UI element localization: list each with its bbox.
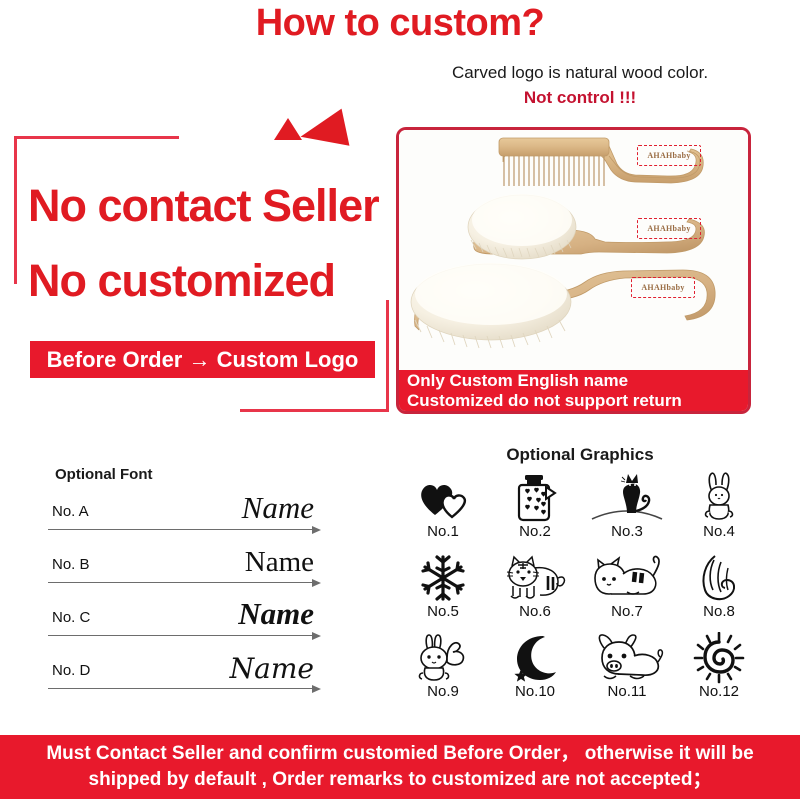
graphic-option-2[interactable]: No.2: [489, 470, 581, 550]
bracket-top-left-horizontal: [14, 136, 179, 139]
graphic-label-12: No.12: [699, 683, 739, 700]
graphic-option-1[interactable]: No.1: [397, 470, 489, 550]
two-hearts-icon: [417, 470, 469, 525]
graphic-option-9[interactable]: No.9: [397, 630, 489, 710]
graphic-label-9: No.9: [427, 683, 459, 700]
font-row-arrow-icon-c: [312, 632, 321, 640]
graphic-label-1: No.1: [427, 523, 459, 540]
bottom-warning-banner: Must Contact Seller and confirm customie…: [0, 735, 800, 799]
graphic-label-3: No.3: [611, 523, 643, 540]
black-cat-on-hill-icon: [590, 470, 664, 525]
graphic-label-4: No.4: [703, 523, 735, 540]
standing-bunny-icon: [697, 470, 741, 525]
font-option-number-c: No. C: [52, 609, 90, 626]
engraving-area-small-brush: AHAHbaby: [637, 218, 701, 239]
graphic-label-10: No.10: [515, 683, 555, 700]
font-row-arrow-icon-d: [312, 685, 321, 693]
font-option-number-b: No. B: [52, 556, 90, 573]
not-control-note: Not control !!!: [400, 88, 760, 108]
font-option-number-d: No. D: [52, 662, 90, 679]
graphic-option-6[interactable]: No.6: [489, 550, 581, 630]
jar-of-hearts-icon: [513, 470, 557, 525]
product-caption-line2: Customized do not support return: [407, 391, 748, 411]
angel-wing-icon: [695, 550, 743, 605]
font-option-sample-d: Name: [230, 652, 314, 685]
optional-font-title: Optional Font: [55, 466, 152, 483]
bottom-warning-line2: shipped by default , Order remarks to cu…: [89, 767, 712, 793]
lying-cat-icon: [587, 550, 667, 605]
sun-swirl-icon: [693, 630, 745, 685]
font-option-row-a[interactable]: No. A Name: [48, 482, 320, 530]
graphic-option-10[interactable]: No.10: [489, 630, 581, 710]
heading-no-contact-seller: No contact Seller: [28, 180, 379, 232]
font-option-sample-c: Name: [238, 596, 314, 632]
heading-no-customized: No customized: [28, 255, 335, 307]
font-option-row-c[interactable]: No. C Name: [48, 588, 320, 636]
carved-logo-note: Carved logo is natural wood color.: [400, 63, 760, 83]
engraving-label-comb: AHAHbaby: [647, 151, 690, 160]
engraving-label-small-brush: AHAHbaby: [647, 224, 690, 233]
font-option-sample-b: Name: [245, 546, 314, 579]
crescent-moon-star-icon: [509, 630, 561, 685]
page-title: How to custom?: [0, 2, 800, 45]
graphic-option-5[interactable]: No.5: [397, 550, 489, 630]
graphic-label-5: No.5: [427, 603, 459, 620]
font-option-row-b[interactable]: No. B Name: [48, 535, 320, 583]
graphic-label-6: No.6: [519, 603, 551, 620]
product-caption: Only Custom English name Customized do n…: [399, 370, 748, 411]
bracket-bottom-right-horizontal: [240, 409, 389, 412]
piglet-icon: [590, 630, 664, 685]
product-photo-frame: AHAHbaby AHAHbaby AHAHbaby Only Custom E…: [396, 127, 751, 414]
infographic-page: How to custom? Carved logo is natural wo…: [0, 0, 800, 800]
font-row-rule-d: [48, 688, 316, 690]
before-order-banner: Before Order → Custom Logo: [30, 341, 375, 378]
optional-graphics-grid: No.1: [397, 470, 767, 710]
bracket-top-left-vertical: [14, 136, 17, 284]
tiger-icon: [504, 550, 566, 605]
graphic-option-4[interactable]: No.4: [673, 470, 765, 550]
graphic-option-7[interactable]: No.7: [581, 550, 673, 630]
font-row-rule-b: [48, 582, 316, 584]
font-option-row-d[interactable]: No. D Name: [48, 641, 320, 689]
product-photo: AHAHbaby AHAHbaby AHAHbaby: [399, 130, 748, 370]
product-caption-line1: Only Custom English name: [407, 371, 748, 391]
triangle-left-icon: [297, 109, 350, 156]
graphic-label-7: No.7: [611, 603, 643, 620]
graphic-label-2: No.2: [519, 523, 551, 540]
engraving-label-large-brush: AHAHbaby: [641, 283, 684, 292]
bracket-bottom-right-vertical: [386, 300, 389, 412]
graphic-option-12[interactable]: No.12: [673, 630, 765, 710]
brush-set-illustration: [399, 130, 748, 370]
engraving-area-large-brush: AHAHbaby: [631, 277, 695, 298]
waving-bunny-icon: [415, 630, 471, 685]
graphic-option-11[interactable]: No.11: [581, 630, 673, 710]
font-row-rule-a: [48, 529, 316, 531]
bottom-warning-line1: Must Contact Seller and confirm customie…: [46, 741, 753, 767]
engraving-area-comb: AHAHbaby: [637, 145, 701, 166]
font-row-arrow-icon-b: [312, 579, 321, 587]
font-row-rule-c: [48, 635, 316, 637]
graphic-option-3[interactable]: No.3: [581, 470, 673, 550]
graphic-label-11: No.11: [608, 683, 647, 700]
graphic-label-8: No.8: [703, 603, 735, 620]
font-row-arrow-icon-a: [312, 526, 321, 534]
snowflake-icon: [418, 550, 468, 605]
optional-graphics-title: Optional Graphics: [395, 445, 765, 465]
graphic-option-8[interactable]: No.8: [673, 550, 765, 630]
font-option-number-a: No. A: [52, 503, 89, 520]
font-option-sample-a: Name: [242, 490, 314, 526]
